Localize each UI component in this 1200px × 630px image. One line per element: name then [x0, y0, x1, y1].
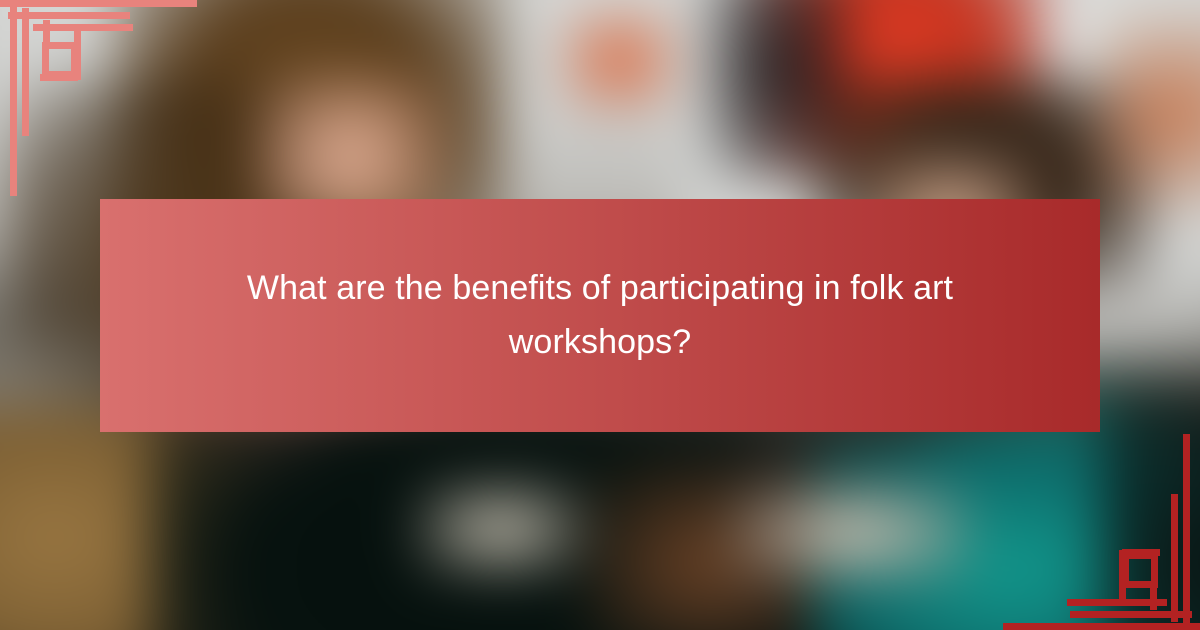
page-title: What are the benefits of participating i… [220, 262, 980, 368]
share-card: What are the benefits of participating i… [0, 0, 1200, 630]
title-banner: What are the benefits of participating i… [100, 199, 1100, 432]
